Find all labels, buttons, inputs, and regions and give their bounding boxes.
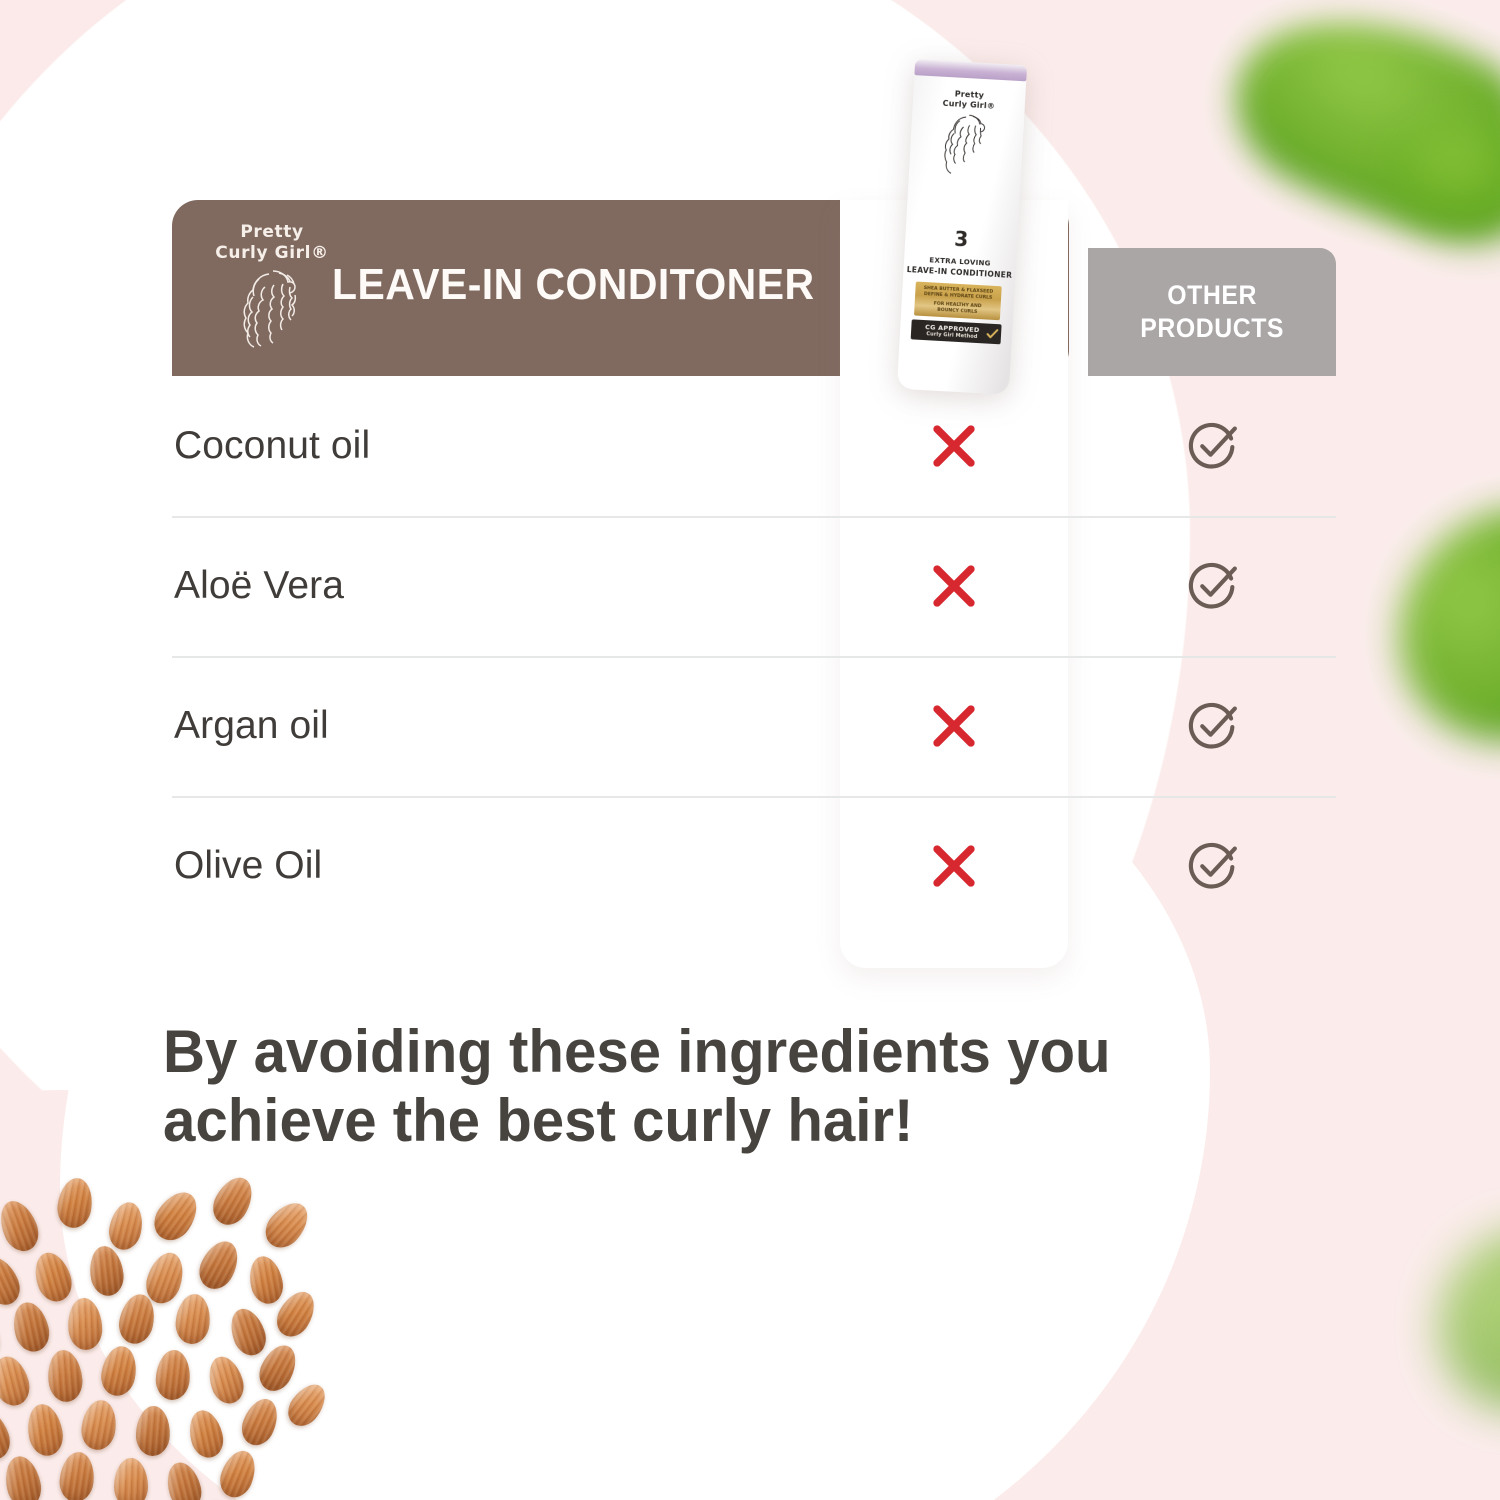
curly-hair-logo-icon [934,111,997,210]
ingredient-label: Coconut oil [174,424,370,468]
almond-shape [114,1458,148,1500]
tagline: By avoiding these ingredients you achiev… [163,1017,1162,1155]
other-products-line1: OTHER [1167,280,1257,310]
almond-shape [147,1184,206,1247]
almond-shape [236,1394,284,1450]
ingredient-label: Aloë Vera [174,564,344,608]
almond-shape [29,1248,77,1306]
tube-gold-label: SHEA BUTTER & FLAXSEED DEFINE & HYDRATE … [914,282,1002,321]
gold-line4: BOUNCY CURLS [937,308,977,315]
almond-shape [203,1352,248,1408]
brand-logo-line2: Curly Girl® [202,243,342,264]
check-circle-icon [1185,419,1239,473]
almond-shape [215,1446,261,1500]
ingredient-label: Argan oil [174,704,329,748]
check-icon [986,328,999,341]
almond-shape [0,1406,16,1465]
almond-shape [57,1450,96,1500]
almond-shape [281,1378,332,1433]
check-circle-icon [1185,559,1239,613]
almond-shape [24,1401,67,1458]
almond-shape [0,1251,26,1310]
product-tube-image: Pretty Curly Girl® 3 EXTRA LOVING LEAVE-… [897,59,1027,395]
almond-shape [55,1176,96,1230]
comparison-table: OTHER PRODUCTS Pretty Curly Girl® [172,200,1336,936]
almond-shape [105,1199,146,1253]
almond-shape [66,1297,104,1351]
almond-shape [135,1405,171,1456]
page-title: LEAVE-IN CONDITONER [332,260,983,310]
almond-shape [193,1235,245,1295]
almond-shape [45,1348,84,1403]
almond-shape [0,1196,45,1257]
almond-shape [154,1349,191,1401]
cross-icon [925,697,983,755]
table-row: Coconut oil [172,376,1336,516]
other-mark-cell [1088,796,1336,936]
table-row: Olive Oil [172,796,1336,936]
almond-shape [206,1171,259,1231]
almond-shape [1,1453,45,1500]
almond-shape [173,1292,212,1345]
brand-logo: Pretty Curly Girl® [202,220,342,370]
table-header: OTHER PRODUCTS Pretty Curly Girl® [172,200,1336,376]
cross-icon [925,837,983,895]
cross-icon [925,557,983,615]
almond-shape [0,1352,34,1409]
other-mark-cell [1088,516,1336,656]
product-mark-cell [840,796,1068,936]
almond-shape [185,1407,228,1461]
product-mark-cell [840,376,1068,516]
almond-shape [258,1195,316,1255]
almond-shape [8,1299,53,1356]
almond-shape [87,1244,127,1298]
almond-shape [245,1253,286,1307]
ingredient-label: Olive Oil [174,844,322,888]
curly-hair-logo-icon [229,267,315,363]
table-row: Argan oil [172,656,1336,796]
check-circle-icon [1185,839,1239,893]
product-mark-cell [840,516,1068,656]
cross-icon [925,417,983,475]
other-products-line2: PRODUCTS [1140,313,1284,343]
poster-canvas: OTHER PRODUCTS Pretty Curly Girl® [0,0,1500,1500]
brand-logo-line1: Pretty [202,222,342,243]
other-mark-cell [1088,376,1336,516]
product-mark-cell [840,656,1068,796]
almond-shape [162,1459,206,1500]
other-products-header: OTHER PRODUCTS [1088,248,1336,376]
tube-gold-text-1: SHEA BUTTER & FLAXSEED DEFINE & HYDRATE … [915,286,1002,303]
almond-shape [79,1398,120,1452]
almond-shape [225,1304,271,1360]
almond-shape [98,1343,140,1398]
table-row: Aloë Vera [172,516,1336,656]
check-circle-icon [1185,699,1239,753]
other-mark-cell [1088,656,1336,796]
almonds-image [0,1160,410,1500]
tube-gold-text-2: FOR HEALTHY AND BOUNCY CURLS [914,300,1001,317]
other-products-label: OTHER PRODUCTS [1140,279,1284,345]
table-body: Coconut oilAloë VeraArgan oilOlive Oil [172,376,1336,936]
